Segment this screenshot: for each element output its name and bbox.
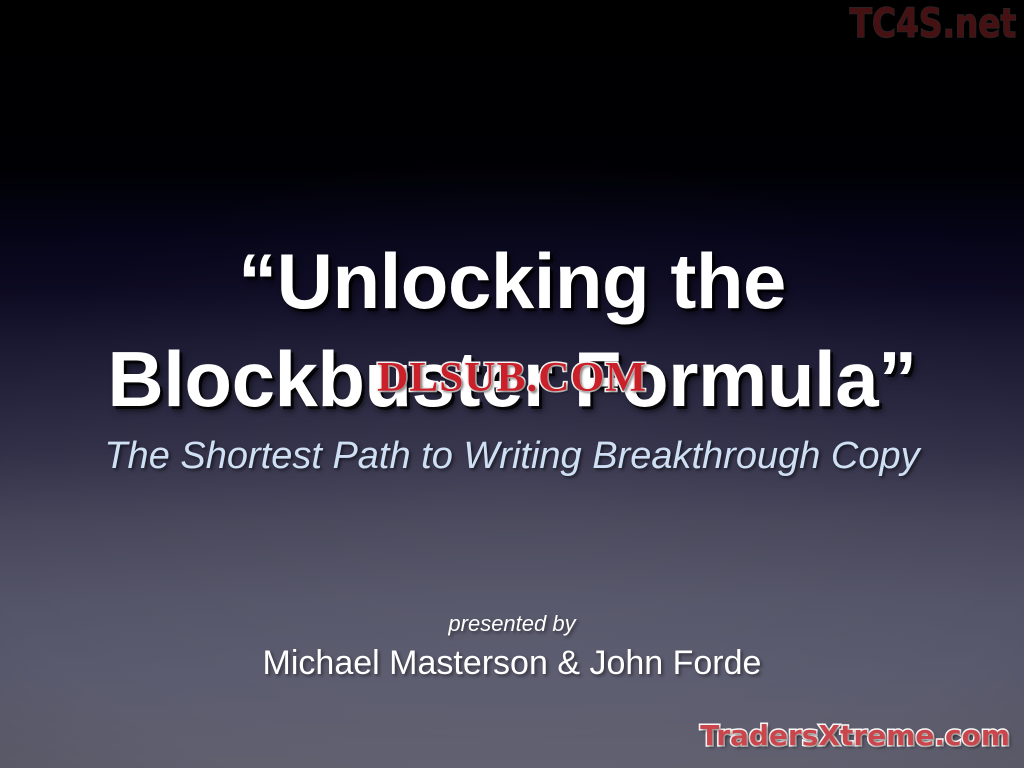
- watermark-bottom-right-text: TradersXtreme.com: [700, 720, 1010, 752]
- title-line-1: “Unlocking the: [0, 232, 1024, 330]
- slide-subtitle: The Shortest Path to Writing Breakthroug…: [0, 433, 1024, 479]
- title-line-2: Blockbuster Formula”: [0, 330, 1024, 428]
- watermark-top-right: TC4S.net: [813, 2, 1016, 46]
- presenter-names: Michael Masterson & John Forde: [0, 642, 1024, 684]
- presentation-slide: TC4S.net “Unlocking the Blockbuster Form…: [0, 0, 1024, 768]
- presenter-credit: presented by Michael Masterson & John Fo…: [0, 610, 1024, 684]
- watermark-bottom-right: TradersXtreme.com: [700, 720, 1010, 752]
- watermark-top-right-text: TC4S.net: [849, 2, 1016, 46]
- page-title: “Unlocking the Blockbuster Formula”: [0, 232, 1024, 428]
- presented-by-label: presented by: [0, 610, 1024, 638]
